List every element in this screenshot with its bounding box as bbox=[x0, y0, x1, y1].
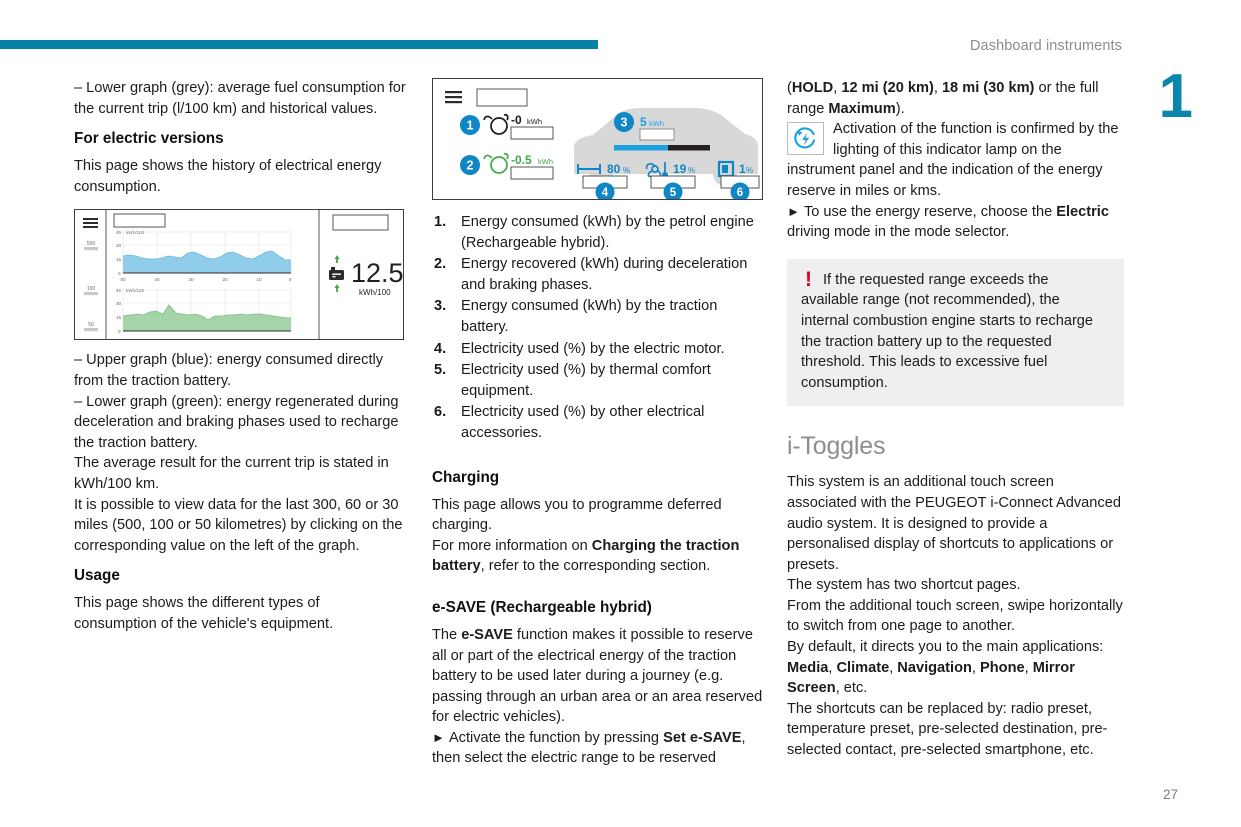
list-item: 4.Electricity used (%) by the electric m… bbox=[432, 339, 765, 360]
svg-text:500: 500 bbox=[87, 241, 96, 247]
svg-text:80: 80 bbox=[607, 162, 621, 176]
text-bold-run: 12 mi (20 km) bbox=[841, 80, 933, 96]
text-bold-run: Maximum bbox=[828, 101, 895, 117]
list-item-label: Electricity used (%) by thermal comfort … bbox=[461, 362, 711, 399]
svg-text:0: 0 bbox=[289, 277, 292, 282]
svg-text:10: 10 bbox=[256, 277, 262, 282]
text-run: Activation of the function is confirmed … bbox=[787, 121, 1119, 199]
app-name-phone: Phone bbox=[980, 660, 1025, 676]
para-hold-options: (HOLD, 12 mi (20 km), 18 mi (30 km) or t… bbox=[787, 78, 1124, 119]
text-run: For more information on bbox=[432, 538, 592, 554]
text-run: Activate the function by pressing bbox=[449, 730, 663, 746]
svg-text:5: 5 bbox=[670, 187, 677, 199]
app-name-climate: Climate bbox=[836, 660, 889, 676]
para-view-data-range: It is possible to view data for the last… bbox=[74, 495, 406, 557]
list-item-number: 4. bbox=[434, 339, 446, 360]
app-name-media: Media bbox=[787, 660, 828, 676]
manual-page: Dashboard instruments 1 27 – Lower graph… bbox=[0, 0, 1241, 827]
column-right: (HOLD, 12 mi (20 km), 18 mi (30 km) or t… bbox=[787, 78, 1124, 761]
list-item-number: 2. bbox=[434, 254, 446, 275]
list-item-number: 6. bbox=[434, 402, 446, 423]
column-middle: 1 -0 kWh 2 bbox=[432, 78, 765, 769]
list-item-label: Electricity used (%) by other electrical… bbox=[461, 404, 704, 441]
svg-text:30: 30 bbox=[116, 301, 122, 306]
heading-i-toggles: i-Toggles bbox=[787, 432, 1124, 461]
para-lower-graph-green: – Lower graph (green): energy regenerate… bbox=[74, 392, 406, 454]
average-consumption-readout: 12.5 kWh/100 bbox=[329, 215, 403, 297]
figure-energy-usage-screen: 1 -0 kWh 2 bbox=[432, 78, 763, 200]
svg-text:kWh: kWh bbox=[649, 119, 664, 128]
para-upper-graph-blue: – Upper graph (blue): energy consumed di… bbox=[74, 350, 406, 391]
svg-text:15: 15 bbox=[116, 257, 122, 262]
energy-history-graphic: 500 100 50 45 30 15 0 kWh/100 bbox=[75, 210, 403, 339]
list-item-number: 1. bbox=[434, 212, 446, 233]
svg-text:-0.5: -0.5 bbox=[511, 153, 532, 167]
list-item: 5.Electricity used (%) by thermal comfor… bbox=[432, 360, 765, 401]
list-item: 3.Energy consumed (kWh) by the traction … bbox=[432, 296, 765, 337]
energy-usage-legend-list: 1.Energy consumed (kWh) by the petrol en… bbox=[432, 212, 765, 444]
warning-exclamation-icon: ! bbox=[805, 271, 812, 289]
list-item: 1.Energy consumed (kWh) by the petrol en… bbox=[432, 212, 765, 253]
callout-1: 1 -0 kWh bbox=[460, 113, 553, 139]
callout-6: 1 % 6 bbox=[719, 162, 759, 199]
chapter-number: 1 bbox=[1159, 66, 1193, 128]
svg-text:kWh/100: kWh/100 bbox=[126, 230, 145, 235]
para-activate-esave: ► Activate the function by pressing Set … bbox=[432, 728, 765, 769]
list-item-number: 3. bbox=[434, 296, 446, 317]
text-run: To use the energy reserve, choose the bbox=[804, 204, 1056, 220]
svg-text:50: 50 bbox=[88, 322, 94, 328]
list-item-number: 5. bbox=[434, 360, 446, 381]
svg-text:%: % bbox=[688, 166, 695, 175]
regeneration-icon bbox=[484, 154, 508, 173]
lower-graph-green: 45 30 15 0 kWh/100 bbox=[116, 288, 291, 334]
list-item-label: Energy consumed (kWh) by the petrol engi… bbox=[461, 214, 754, 251]
svg-text:kWh/100: kWh/100 bbox=[126, 288, 145, 293]
text-bold-run: HOLD bbox=[792, 80, 833, 96]
para-esave: The e-SAVE function makes it possible to… bbox=[432, 625, 765, 728]
list-item: 6.Electricity used (%) by other electric… bbox=[432, 402, 765, 443]
upper-graph-blue: 45 30 15 0 kWh/100 bbox=[116, 230, 292, 282]
para-swipe-instruction: From the additional touch screen, swipe … bbox=[787, 596, 1124, 637]
text-bold-run: Electric bbox=[1056, 204, 1109, 220]
svg-text:15: 15 bbox=[116, 315, 122, 320]
svg-text:19: 19 bbox=[673, 162, 687, 176]
text-run: By default, it directs you to the main a… bbox=[787, 639, 1103, 655]
warning-text: If the requested range exceeds the avail… bbox=[801, 270, 1110, 394]
para-indicator-lamp: Activation of the function is confirmed … bbox=[787, 119, 1124, 201]
text-run: , etc. bbox=[836, 680, 868, 696]
warning-callout-box: ! If the requested range exceeds the ava… bbox=[787, 259, 1124, 407]
svg-text:2: 2 bbox=[467, 159, 474, 173]
svg-text:45: 45 bbox=[116, 230, 122, 235]
svg-text:20: 20 bbox=[222, 277, 228, 282]
para-shortcut-replacements: The shortcuts can be replaced by: radio … bbox=[787, 699, 1124, 761]
svg-text:-0: -0 bbox=[511, 113, 522, 127]
figure-energy-history-screen: 500 100 50 45 30 15 0 kWh/100 bbox=[74, 209, 404, 340]
svg-text:100: 100 bbox=[87, 286, 96, 292]
header-accent-bar bbox=[0, 40, 598, 49]
svg-text:0: 0 bbox=[118, 271, 121, 276]
triangle-bullet-icon: ► bbox=[432, 730, 445, 745]
svg-text:3: 3 bbox=[621, 116, 628, 130]
e-save-indicator-lamp-icon bbox=[787, 122, 824, 155]
svg-text:4: 4 bbox=[602, 187, 609, 199]
page-header-title: Dashboard instruments bbox=[970, 38, 1122, 54]
svg-text:40: 40 bbox=[154, 277, 160, 282]
energy-usage-graphic: 1 -0 kWh 2 bbox=[433, 79, 762, 199]
text-run: , bbox=[934, 80, 942, 96]
svg-text:%: % bbox=[746, 166, 753, 175]
svg-text:30: 30 bbox=[116, 243, 122, 248]
svg-text:5: 5 bbox=[640, 115, 647, 129]
text-bold-run: 18 mi (30 km) bbox=[942, 80, 1034, 96]
text-bold-run: e-SAVE bbox=[461, 627, 513, 643]
list-item: 2.Energy recovered (kWh) during decelera… bbox=[432, 254, 765, 295]
para-lower-graph-grey: – Lower graph (grey): average fuel consu… bbox=[74, 78, 406, 119]
para-charging: This page allows you to programme deferr… bbox=[432, 495, 765, 536]
list-item-label: Energy consumed (kWh) by the traction ba… bbox=[461, 298, 717, 335]
para-more-information: For more information on Charging the tra… bbox=[432, 536, 765, 577]
svg-text:0: 0 bbox=[118, 329, 121, 334]
text-run: driving mode in the mode selector. bbox=[787, 224, 1009, 240]
page-number: 27 bbox=[1163, 787, 1178, 802]
svg-text:kWh/100: kWh/100 bbox=[359, 288, 391, 297]
text-run: ). bbox=[896, 101, 905, 117]
hamburger-icon bbox=[83, 218, 98, 228]
svg-text:1: 1 bbox=[467, 119, 474, 133]
svg-text:%: % bbox=[623, 166, 630, 175]
para-default-applications: By default, it directs you to the main a… bbox=[787, 637, 1124, 699]
heading-for-electric-versions: For electric versions bbox=[74, 130, 406, 148]
svg-text:kWh: kWh bbox=[527, 117, 542, 126]
para-two-shortcut-pages: The system has two shortcut pages. bbox=[787, 575, 1124, 596]
svg-text:1: 1 bbox=[739, 162, 746, 176]
hamburger-icon bbox=[445, 91, 462, 103]
para-system-description: This system is an additional touch scree… bbox=[787, 472, 1124, 575]
svg-text:45: 45 bbox=[116, 288, 122, 293]
list-item-label: Energy recovered (kWh) during decelerati… bbox=[461, 256, 747, 293]
triangle-bullet-icon: ► bbox=[787, 204, 800, 219]
para-use-energy-reserve: ► To use the energy reserve, choose the … bbox=[787, 202, 1124, 243]
text-run: , refer to the corresponding section. bbox=[481, 558, 711, 574]
column-left: – Lower graph (grey): average fuel consu… bbox=[74, 78, 406, 635]
list-item-label: Electricity used (%) by the electric mot… bbox=[461, 341, 725, 357]
svg-text:12.5: 12.5 bbox=[351, 258, 403, 288]
heading-charging: Charging bbox=[432, 469, 765, 487]
svg-text:6: 6 bbox=[737, 187, 743, 199]
svg-text:30: 30 bbox=[188, 277, 194, 282]
text-bold-run: Set e-SAVE bbox=[663, 730, 741, 746]
para-usage: This page shows the different types of c… bbox=[74, 593, 406, 634]
heading-usage: Usage bbox=[74, 567, 406, 585]
app-name-navigation: Navigation bbox=[897, 660, 972, 676]
svg-text:kWh: kWh bbox=[538, 157, 553, 166]
callout-2: 2 -0.5 kWh bbox=[460, 153, 553, 179]
engine-recirculation-icon bbox=[484, 115, 508, 134]
heading-esave: e-SAVE (Rechargeable hybrid) bbox=[432, 599, 765, 617]
para-history-electrical-energy: This page shows the history of electrica… bbox=[74, 156, 406, 197]
battery-icon bbox=[329, 255, 344, 292]
svg-text:50: 50 bbox=[120, 277, 126, 282]
para-average-result: The average result for the current trip … bbox=[74, 453, 406, 494]
text-run: The bbox=[432, 627, 461, 643]
